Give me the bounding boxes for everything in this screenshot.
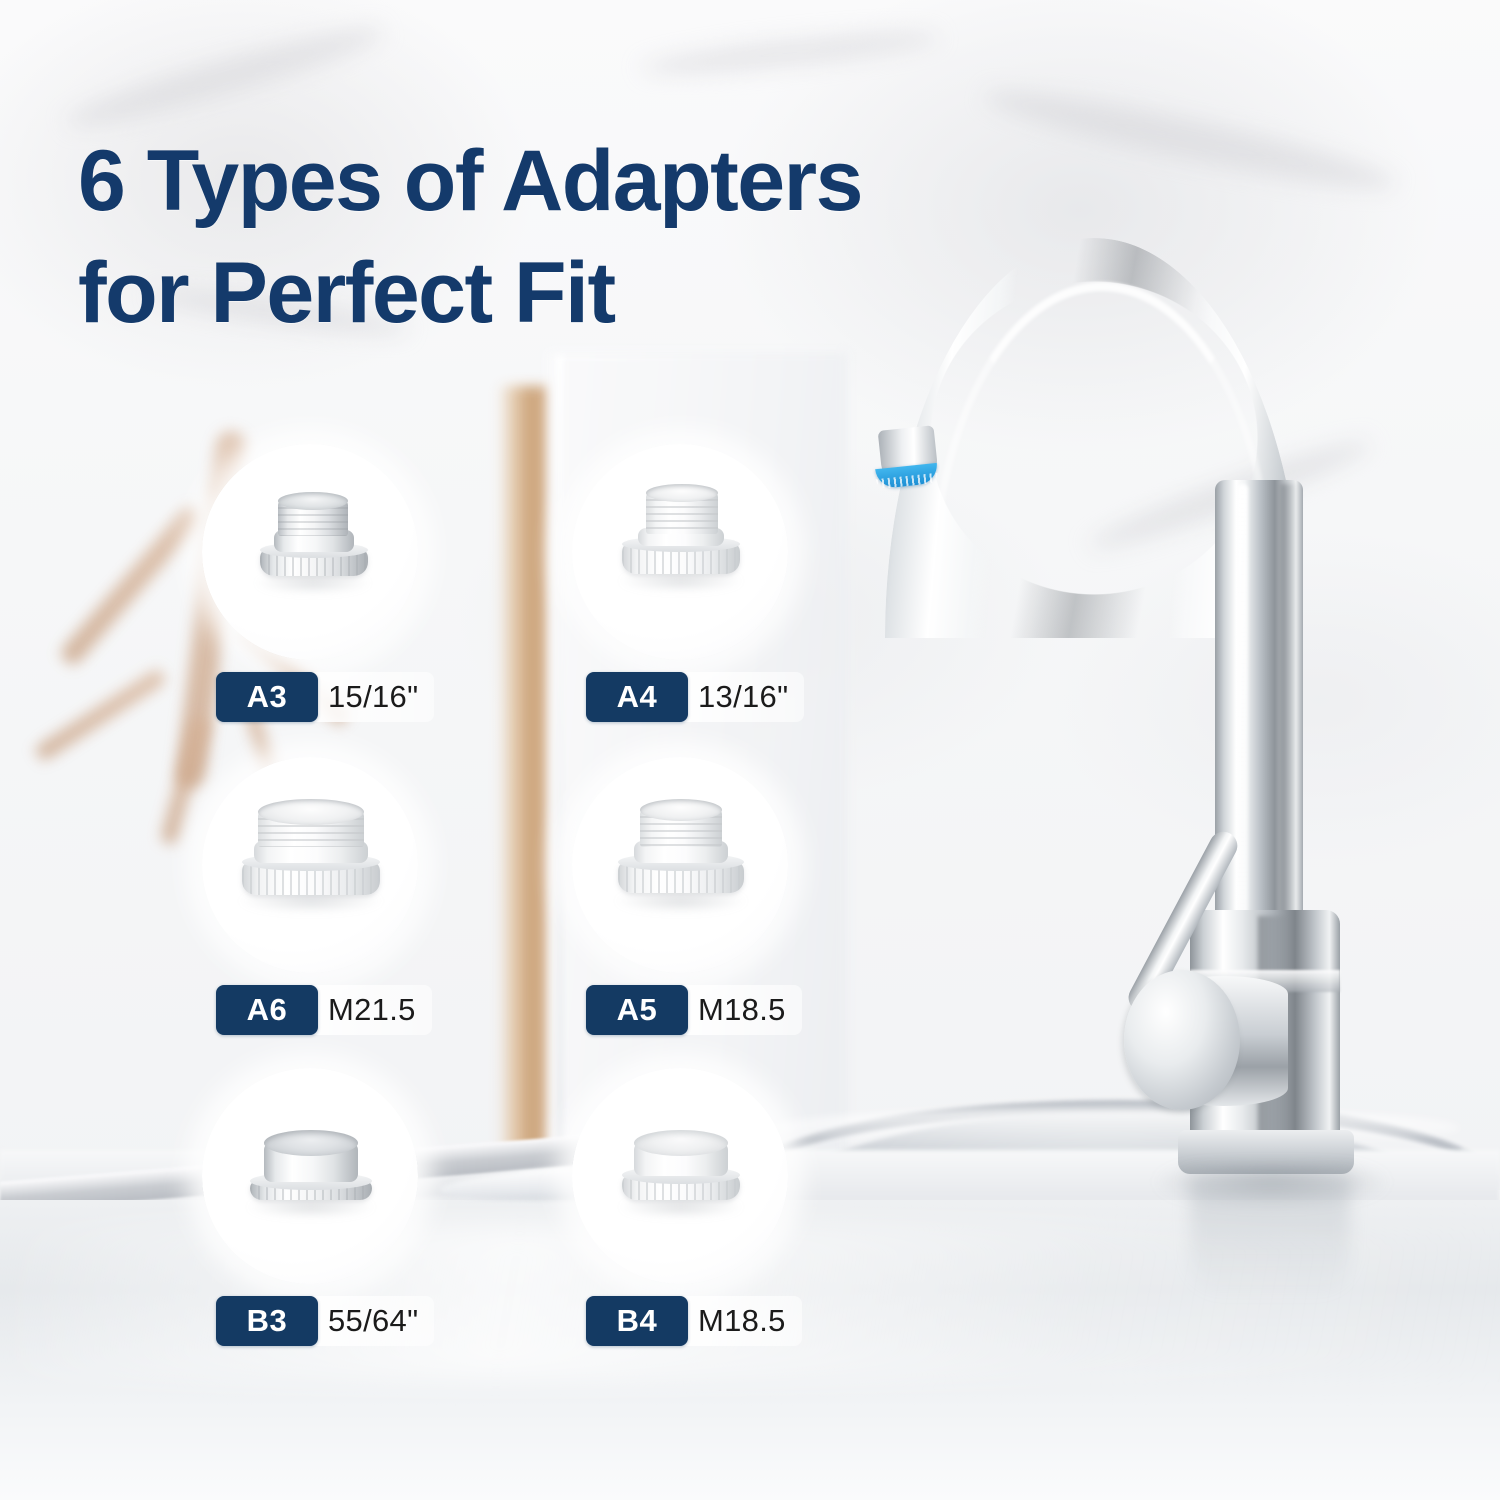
adapter-bubble <box>202 444 418 660</box>
adapter-size: M18.5 <box>684 1296 802 1346</box>
adapter-bubble <box>202 1068 418 1284</box>
adapter-size: 55/64" <box>314 1296 434 1346</box>
adapter-a4-icon <box>572 444 788 660</box>
adapter-label-row: B4 M18.5 <box>586 1296 802 1346</box>
status-badge: A6 <box>216 985 318 1035</box>
status-badge: B3 <box>216 1296 318 1346</box>
adapter-label-row: A4 13/16" <box>586 672 804 722</box>
adapter-a6-icon <box>202 757 418 973</box>
adapter-a5-icon <box>572 757 788 973</box>
adapter-size: 15/16" <box>314 672 434 722</box>
adapter-size: 13/16" <box>684 672 804 722</box>
adapter-b3-icon <box>202 1068 418 1284</box>
adapter-label-row: A6 M21.5 <box>216 985 432 1035</box>
adapter-bubble <box>202 757 418 973</box>
adapter-label-row: A3 15/16" <box>216 672 434 722</box>
adapter-bubble <box>572 757 788 973</box>
adapter-bubble <box>572 444 788 660</box>
adapter-size: M21.5 <box>314 985 432 1035</box>
adapter-a3-icon <box>202 444 418 660</box>
status-badge: A3 <box>216 672 318 722</box>
adapter-b4-icon <box>572 1068 788 1284</box>
adapter-label-row: B3 55/64" <box>216 1296 434 1346</box>
status-badge: A5 <box>586 985 688 1035</box>
adapter-label-row: A5 M18.5 <box>586 985 802 1035</box>
adapter-grid: A3 15/16" A4 13/16" <box>0 0 1500 1500</box>
adapter-size: M18.5 <box>684 985 802 1035</box>
infographic-canvas: 6 Types of Adapters for Perfect Fit A3 1… <box>0 0 1500 1500</box>
adapter-bubble <box>572 1068 788 1284</box>
status-badge: A4 <box>586 672 688 722</box>
status-badge: B4 <box>586 1296 688 1346</box>
